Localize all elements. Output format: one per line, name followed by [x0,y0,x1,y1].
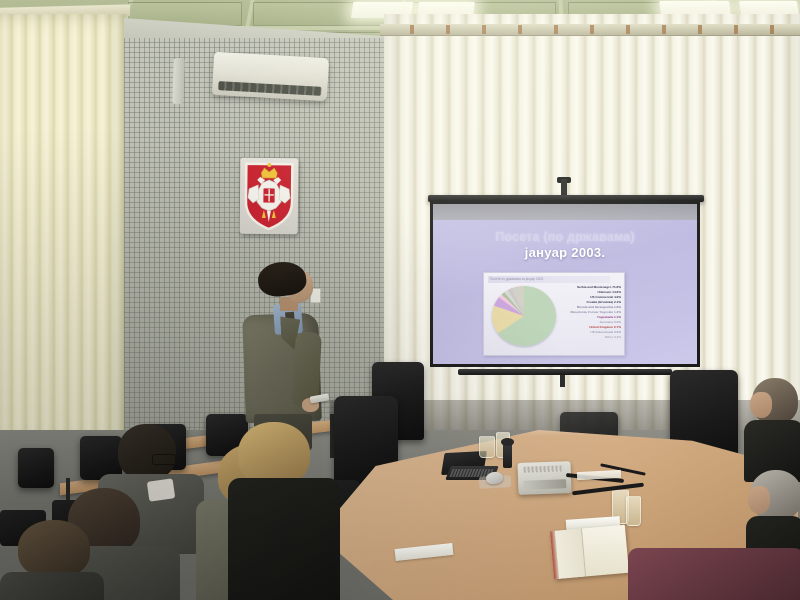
screen-bottom-bar [458,369,672,375]
legend-item: Croatia (Hrvatska) 2.1% [586,300,621,305]
serbian-coat-of-arms [240,158,299,243]
chair[interactable] [18,448,54,488]
projector-ports [523,479,566,489]
projection-screen: Посета (по државама) јануар 2003. Посете… [428,179,704,387]
legend-item: Serbia and Montenegro 71.8% [577,285,621,290]
projector-vent [524,465,564,472]
drinking-glass [479,436,495,458]
person-head [238,422,310,486]
vertical-blinds-left[interactable] [0,14,128,446]
audience-member [744,378,800,478]
audience-member [228,420,340,600]
legend-item: US Commercial 4.9% [590,295,621,300]
ac-vent [218,81,321,96]
ceiling-light [739,1,799,15]
screen-support-pole [560,375,565,387]
notepad [550,525,629,579]
notepad-page [555,529,586,579]
slide-title-line2: јануар 2003. [433,245,697,260]
person-body [0,572,104,600]
audience-member [0,520,104,600]
slide-title-line1: Посета (по државама) [433,230,697,244]
wall-conduit [172,58,185,104]
legend-item: Other 0.4% [605,335,621,340]
legend-item: United Kingdom 0.7% [589,325,621,330]
table-microphone [503,442,512,468]
legend-item: Germany 0.9% [600,320,621,325]
person-head [118,424,176,480]
drinking-glass [626,496,641,526]
air-conditioner [212,52,329,101]
person-face [748,486,770,514]
legend-item: Unknown 14.6% [597,290,621,295]
audience-member [628,548,800,600]
legend-item: Yugoslavia 1.1% [597,315,621,320]
person-head [18,520,90,578]
person-glasses [152,454,176,465]
legend-item: Macedonia, Former Yugoslav 1.3% [570,310,621,315]
screen-grey-band [433,204,697,220]
pie-chart-graphic [492,286,556,346]
chart-header-label: Посете по државама за јануар 2003. [488,276,610,283]
ceiling-light [659,1,731,15]
chart-legend: Serbia and Montenegro 71.8%Unknown 14.6%… [559,285,621,339]
legend-item: US Educational 0.6% [590,330,621,335]
pie-chart: Посете по државама за јануар 2003. Serbi… [483,272,625,356]
legend-item: Bosnia and Herzegovina 1.6% [577,305,621,310]
conference-room-photo: Посета (по државама) јануар 2003. Посете… [0,0,800,600]
person-body [628,548,800,600]
data-projector [517,461,571,495]
presentation-slide: Посета (по државама) јануар 2003. Посете… [433,220,697,364]
blind-rail-right [380,24,800,36]
microphone-head [501,438,514,446]
person-body [228,478,340,600]
person-face [750,392,772,418]
